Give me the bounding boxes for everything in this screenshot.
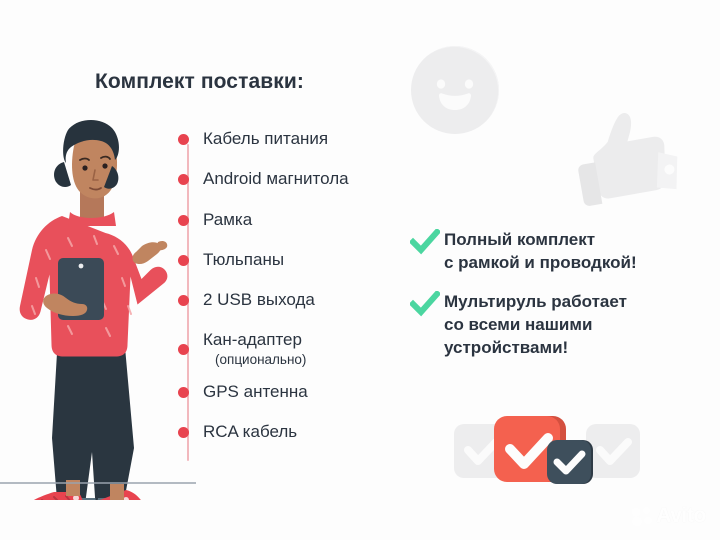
claim-line: со всеми нашими xyxy=(444,313,627,336)
list-item: Кан-адаптер (опционально) xyxy=(178,329,418,381)
thumbs-up-icon xyxy=(560,105,692,225)
claim-line: с рамкой и проводкой! xyxy=(444,251,637,274)
bullet-dot xyxy=(178,295,189,306)
list-item-label: Тюльпаны xyxy=(203,250,284,269)
list-item: Android магнитола xyxy=(178,168,418,209)
list-item-label: Кабель питания xyxy=(203,129,328,148)
list-item: 2 USB выхода xyxy=(178,289,418,329)
claim-text: Полный комплект с рамкой и проводкой! xyxy=(444,228,637,274)
slide-canvas: Комплект поставки: Кабель питания Androi… xyxy=(0,0,720,540)
list-item-label: Рамка xyxy=(203,210,252,229)
claim-item: Мультируль работает со всеми нашими устр… xyxy=(410,290,710,359)
list-item: RCA кабель xyxy=(178,421,418,461)
claim-item: Полный комплект с рамкой и проводкой! xyxy=(410,228,710,274)
list-item: GPS антенна xyxy=(178,381,418,421)
list-item-sublabel: (опционально) xyxy=(215,351,306,368)
bullet-dot xyxy=(178,215,189,226)
bullet-dot xyxy=(178,344,189,355)
ground-line xyxy=(0,482,196,484)
claim-line: устройствами! xyxy=(444,336,627,359)
spec-list: Кабель питания Android магнитола Рамка Т… xyxy=(178,128,418,461)
claim-line: Полный комплект xyxy=(444,228,637,251)
bullet-dot xyxy=(178,427,189,438)
bullet-dot xyxy=(178,387,189,398)
claim-text: Мультируль работает со всеми нашими устр… xyxy=(444,290,627,359)
bullet-dot xyxy=(178,134,189,145)
page-title: Комплект поставки: xyxy=(95,70,304,94)
checkbox-group-graphic xyxy=(452,398,642,500)
list-item: Рамка xyxy=(178,209,418,249)
check-icon xyxy=(410,291,440,317)
list-item-label: 2 USB выхода xyxy=(203,290,315,309)
list-item-label: Android магнитола xyxy=(203,169,349,188)
avito-watermark: Avito xyxy=(631,504,706,528)
claim-line: Мультируль работает xyxy=(444,290,627,313)
avito-wordmark: Avito xyxy=(656,504,706,528)
woman-pointing-illustration xyxy=(2,100,180,500)
list-item-label: Кан-адаптер xyxy=(203,330,302,349)
claims-block: Полный комплект с рамкой и проводкой! Му… xyxy=(410,228,710,375)
check-icon xyxy=(410,229,440,255)
avito-dots-icon xyxy=(631,506,653,526)
list-item: Тюльпаны xyxy=(178,249,418,289)
list-item-label: RCA кабель xyxy=(203,422,297,441)
list-item: Кабель питания xyxy=(178,128,418,168)
list-item-label: GPS антенна xyxy=(203,382,308,401)
bullet-dot xyxy=(178,255,189,266)
bullet-dot xyxy=(178,174,189,185)
